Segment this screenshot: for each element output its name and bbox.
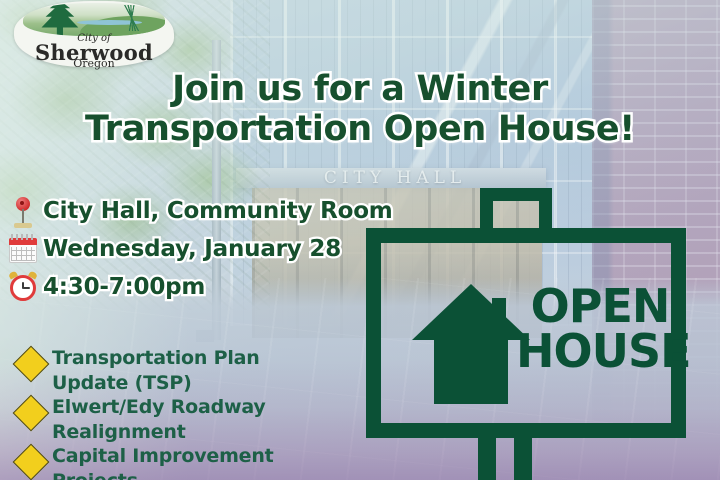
topics-list: Transportation Plan Update (TSP) Elwert/…: [18, 346, 318, 480]
list-item: Elwert/Edy Roadway Realignment: [18, 395, 318, 445]
list-item: Capital Improvement Projects: [18, 444, 318, 480]
headline: Join us for a Winter Transportation Open…: [0, 70, 720, 150]
grass-reeds-icon: [108, 5, 156, 31]
list-item: Transportation Plan Update (TSP): [18, 346, 318, 396]
topic-text: Transportation Plan Update (TSP): [52, 346, 318, 396]
city-logo: City of Sherwood Oregon: [14, 1, 174, 67]
clock-icon: [6, 270, 40, 304]
sign-label-line-2: HOUSE: [516, 329, 684, 374]
yellow-diamond-icon: [13, 346, 50, 383]
topic-text: Capital Improvement Projects: [52, 444, 318, 480]
map-pin-icon: [6, 194, 40, 228]
house-icon: [412, 284, 530, 404]
topic-text: Elwert/Edy Roadway Realignment: [52, 395, 318, 445]
event-flyer: CITY HALL City of Sherwood Oregon Join u…: [0, 0, 720, 480]
headline-line-2: Transportation Open House!: [0, 110, 720, 150]
detail-row-time: 4:30-7:00pm: [6, 268, 393, 306]
evergreen-tree-icon: [34, 3, 85, 36]
detail-row-date: Wednesday, January 28: [6, 230, 393, 268]
sign-label: OPEN HOUSE: [516, 284, 684, 374]
sign-leg-left: [478, 438, 496, 480]
detail-time-text: 4:30-7:00pm: [43, 274, 205, 300]
headline-line-1: Join us for a Winter: [0, 70, 720, 110]
yellow-diamond-icon: [13, 395, 50, 432]
sign-rail: [366, 423, 686, 438]
open-house-sign-graphic: OPEN HOUSE: [366, 188, 686, 480]
calendar-icon: [6, 232, 40, 266]
detail-row-location: City Hall, Community Room: [6, 192, 393, 230]
detail-location-text: City Hall, Community Room: [43, 198, 393, 224]
event-details: City Hall, Community Room Wednesday, Jan…: [6, 192, 393, 306]
logo-state-name: Oregon: [14, 58, 174, 69]
logo-landscape-scene: [23, 3, 165, 36]
sign-leg-right: [514, 438, 532, 480]
sign-label-line-1: OPEN: [516, 284, 684, 329]
yellow-diamond-icon: [13, 444, 50, 480]
detail-date-text: Wednesday, January 28: [43, 236, 341, 262]
